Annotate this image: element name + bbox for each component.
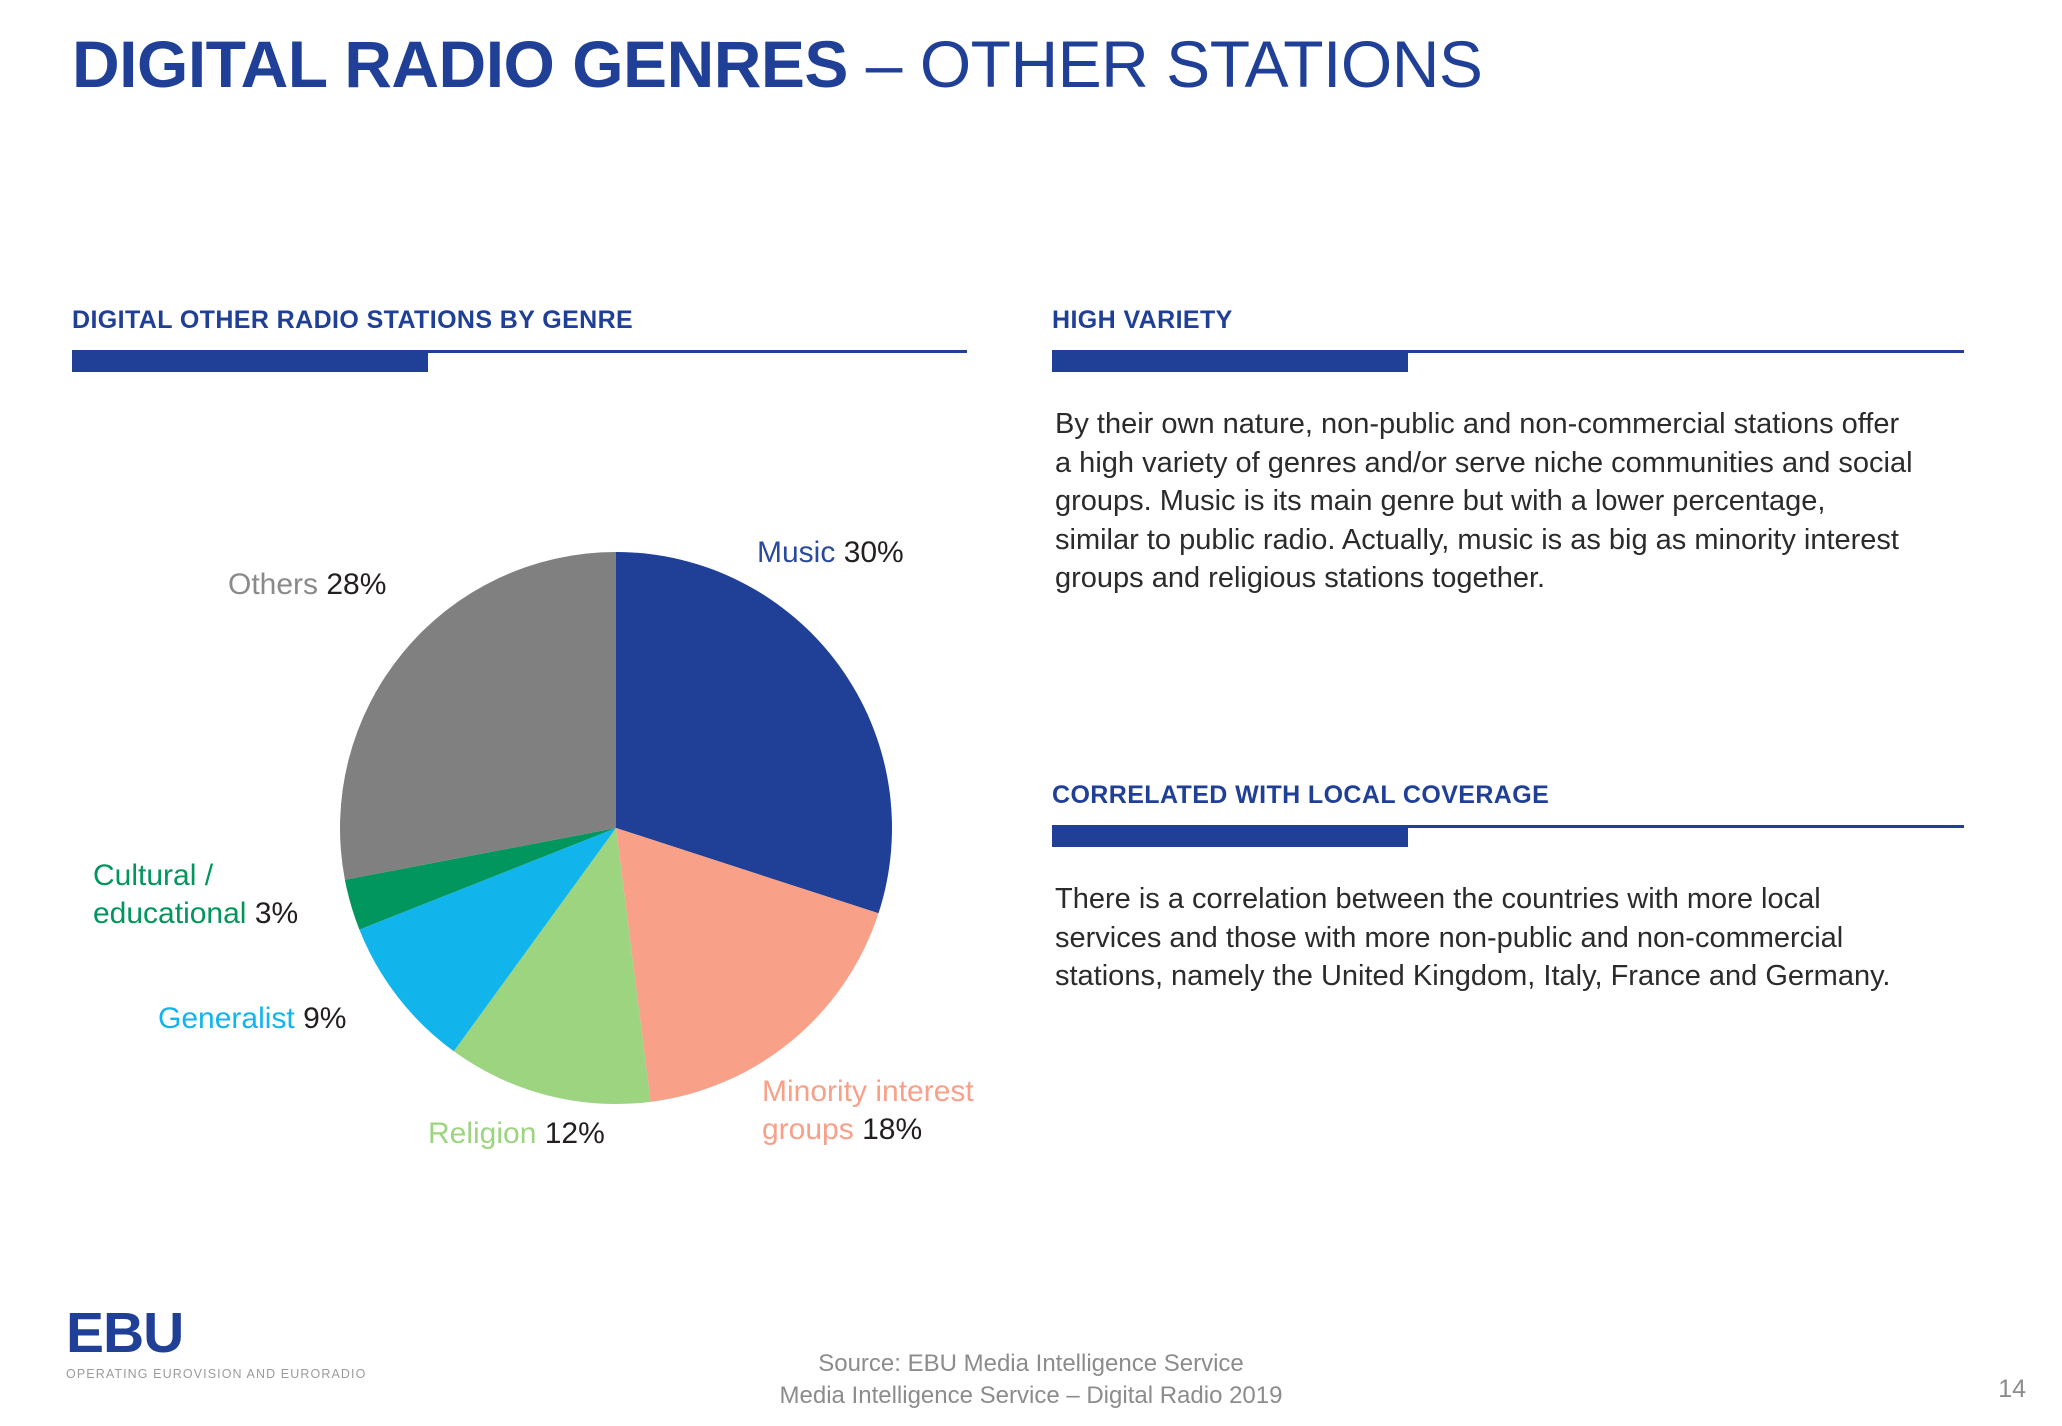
- pie-label-music-name: Music: [757, 536, 835, 569]
- pie-label-others: Others 28%: [228, 566, 386, 604]
- panel-body-high-variety: By their own nature, non-public and non-…: [1055, 405, 1915, 598]
- pie-label-music: Music 30%: [757, 534, 904, 572]
- pie-chart-svg: [336, 548, 896, 1108]
- page-title-light: – OTHER STATIONS: [848, 27, 1482, 101]
- pie-label-generalist: Generalist 9%: [158, 1000, 346, 1038]
- source-note: Source: EBU Media Intelligence Service M…: [0, 1348, 2062, 1412]
- pie-label-music-value: 30%: [844, 536, 904, 569]
- pie-chart: [336, 548, 896, 1108]
- page-title: DIGITAL RADIO GENRES – OTHER STATIONS: [72, 28, 1482, 101]
- pie-label-generalist-name: Generalist: [158, 1002, 295, 1035]
- pie-label-generalist-value: 9%: [303, 1002, 346, 1035]
- chart-section-header-label: DIGITAL OTHER RADIO STATIONS BY GENRE: [72, 308, 967, 333]
- pie-label-religion-name: Religion: [428, 1117, 536, 1150]
- pie-label-others-name: Others: [228, 568, 318, 601]
- pie-label-minority-interest-groups: Minority interest groups 18%: [762, 1073, 1042, 1150]
- pie-label-religion-value: 12%: [545, 1117, 605, 1150]
- chart-section-header-rule: [72, 350, 967, 353]
- panel-header-high-variety: HIGH VARIETY: [1052, 308, 1964, 353]
- pie-label-cultural-name: Cultural / educational: [93, 859, 246, 930]
- panel-body-correlated-with-local-coverage: There is a correlation between the count…: [1055, 880, 1927, 996]
- panel-header-high-variety-label: HIGH VARIETY: [1052, 308, 1964, 333]
- page-number: 14: [1998, 1375, 2026, 1404]
- pie-label-minority-value: 18%: [862, 1113, 922, 1146]
- pie-label-religion: Religion 12%: [428, 1115, 605, 1153]
- panel-header-correlated-label: CORRELATED WITH LOCAL COVERAGE: [1052, 783, 1964, 808]
- chart-section-header: DIGITAL OTHER RADIO STATIONS BY GENRE: [72, 308, 967, 353]
- pie-slice-group: [340, 552, 892, 1104]
- panel-header-high-variety-rule: [1052, 350, 1964, 353]
- pie-label-others-value: 28%: [326, 568, 386, 601]
- source-note-line-1: Source: EBU Media Intelligence Service: [0, 1348, 2062, 1380]
- panel-header-correlated-with-local-coverage: CORRELATED WITH LOCAL COVERAGE: [1052, 783, 1964, 828]
- page-title-bold: DIGITAL RADIO GENRES: [72, 27, 848, 101]
- pie-label-cultural-value: 3%: [255, 897, 298, 930]
- source-note-line-2: Media Intelligence Service – Digital Rad…: [0, 1380, 2062, 1412]
- panel-header-correlated-rule: [1052, 825, 1964, 828]
- pie-label-cultural-educational: Cultural / educational 3%: [93, 857, 353, 934]
